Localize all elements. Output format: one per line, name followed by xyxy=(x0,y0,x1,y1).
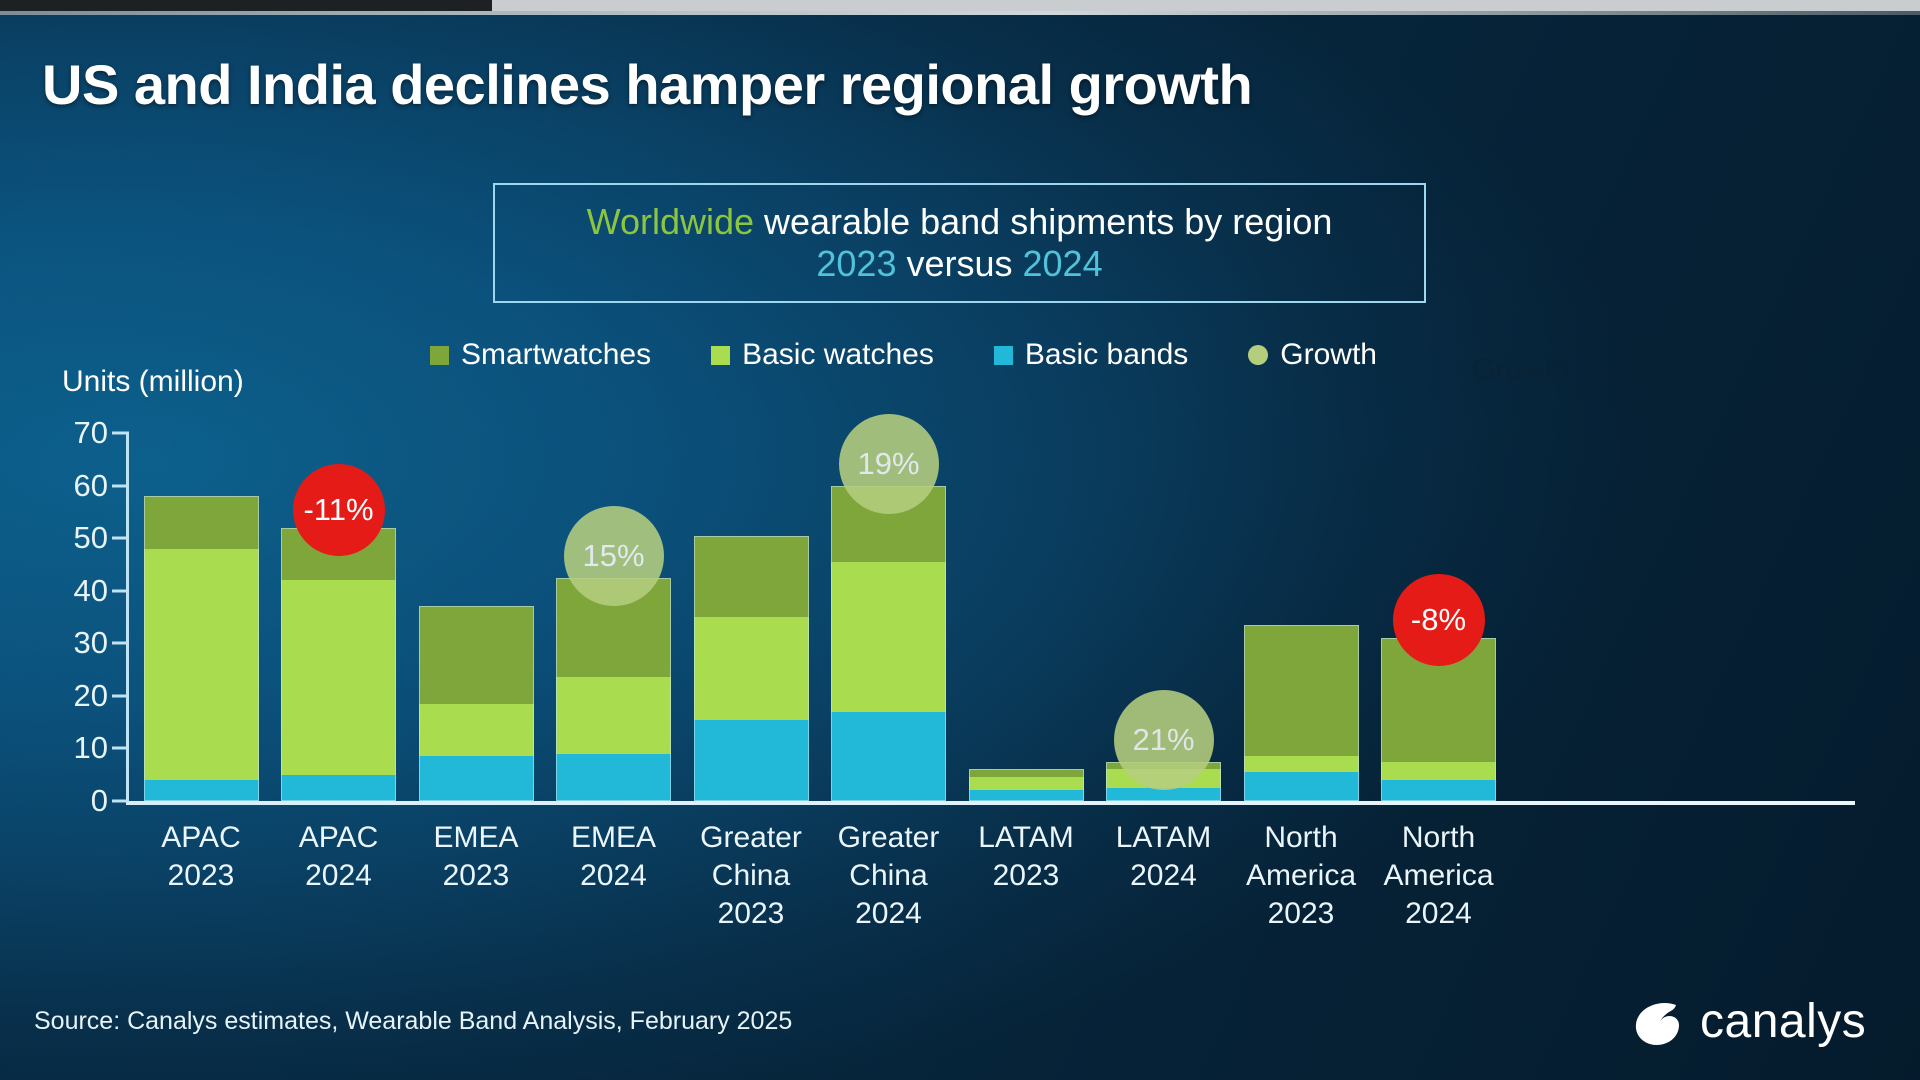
legend-label: Growth xyxy=(1280,338,1377,372)
growth-bubble: 21% xyxy=(1114,690,1214,790)
growth-bubble: 19% xyxy=(839,414,939,514)
bar-segment-basic-watches[interactable] xyxy=(694,617,809,720)
bar-segment-basic-watches[interactable] xyxy=(419,704,534,757)
x-axis-category-label: North America 2024 xyxy=(1339,819,1539,932)
legend-swatch-icon xyxy=(994,346,1013,365)
growth-bubble: 15% xyxy=(564,506,664,606)
legend-item-basic-watches[interactable]: Basic watches xyxy=(711,338,934,372)
bar-segment-basic-bands[interactable] xyxy=(556,754,671,801)
bar-segment-basic-bands[interactable] xyxy=(419,756,534,801)
browser-top-strip-dark-segment xyxy=(0,0,492,11)
bar-segment-smartwatches[interactable] xyxy=(969,769,1084,777)
bar-segment-basic-watches[interactable] xyxy=(969,777,1084,790)
ghost-growth-artifact-text: Growth xyxy=(1472,353,1571,387)
x-axis-line xyxy=(126,801,1855,805)
y-axis-tick-mark xyxy=(112,800,129,803)
bar-segment-basic-watches[interactable] xyxy=(144,549,259,780)
legend-item-growth[interactable]: Growth xyxy=(1248,338,1377,372)
bar-segment-smartwatches[interactable] xyxy=(144,496,259,549)
canalys-mark-icon xyxy=(1630,993,1686,1049)
bar-segment-basic-bands[interactable] xyxy=(694,720,809,801)
bar-segment-basic-watches[interactable] xyxy=(281,580,396,775)
subtitle-box: Worldwide wearable band shipments by reg… xyxy=(493,183,1426,303)
y-axis-tick-label: 0 xyxy=(46,783,108,819)
bar-group[interactable] xyxy=(1244,625,1359,801)
y-axis-tick-label: 10 xyxy=(46,730,108,766)
legend-item-basic-bands[interactable]: Basic bands xyxy=(994,338,1188,372)
y-axis-tick-mark xyxy=(112,642,129,645)
subtitle-scope: Worldwide xyxy=(587,201,754,242)
bar-segment-basic-watches[interactable] xyxy=(1244,756,1359,772)
y-axis-tick-mark xyxy=(112,432,129,435)
y-axis-tick-mark xyxy=(112,484,129,487)
bar-group[interactable] xyxy=(831,486,946,801)
y-axis-tick-label: 60 xyxy=(46,468,108,504)
canalys-wordmark: canalys xyxy=(1700,994,1866,1049)
bar-group[interactable] xyxy=(969,769,1084,801)
source-note: Source: Canalys estimates, Wearable Band… xyxy=(34,1007,792,1036)
bar-segment-basic-watches[interactable] xyxy=(1381,762,1496,780)
bar-group[interactable] xyxy=(144,496,259,801)
legend-label: Smartwatches xyxy=(461,338,651,372)
y-axis-tick-label: 50 xyxy=(46,520,108,556)
chart-legend: Smartwatches Basic watches Basic bands G… xyxy=(430,338,1377,372)
legend-swatch-icon xyxy=(711,346,730,365)
y-axis-tick-mark xyxy=(112,589,129,592)
bar-segment-basic-bands[interactable] xyxy=(831,712,946,801)
page-title: US and India declines hamper regional gr… xyxy=(42,52,1252,117)
growth-bubble: -11% xyxy=(293,464,385,556)
subtitle-year-a: 2023 xyxy=(816,243,896,284)
y-axis-title: Units (million) xyxy=(62,365,244,399)
legend-label: Basic watches xyxy=(742,338,934,372)
bar-segment-smartwatches[interactable] xyxy=(1244,625,1359,756)
bar-group[interactable] xyxy=(694,536,809,801)
subtitle-versus: versus xyxy=(896,243,1022,284)
subtitle-line-1-rest: wearable band shipments by region xyxy=(754,201,1332,242)
y-axis-tick-mark xyxy=(112,537,129,540)
y-axis-tick-label: 30 xyxy=(46,625,108,661)
bar-segment-basic-bands[interactable] xyxy=(969,790,1084,801)
subtitle-line-1: Worldwide wearable band shipments by reg… xyxy=(587,201,1333,243)
legend-label: Basic bands xyxy=(1025,338,1188,372)
slide-canvas: US and India declines hamper regional gr… xyxy=(0,15,1920,1080)
bar-segment-basic-bands[interactable] xyxy=(1106,788,1221,801)
legend-circle-dot-icon xyxy=(1248,345,1268,365)
y-axis-tick-label: 20 xyxy=(46,678,108,714)
subtitle-year-b: 2024 xyxy=(1023,243,1103,284)
subtitle-line-2: 2023 versus 2024 xyxy=(816,243,1102,285)
legend-item-smartwatches[interactable]: Smartwatches xyxy=(430,338,651,372)
bar-group[interactable] xyxy=(556,578,671,801)
bar-segment-basic-bands[interactable] xyxy=(281,775,396,801)
y-axis-tick-mark xyxy=(112,747,129,750)
bar-group[interactable] xyxy=(419,606,534,801)
bar-segment-basic-bands[interactable] xyxy=(1244,772,1359,801)
bar-group[interactable] xyxy=(281,528,396,801)
legend-swatch-icon xyxy=(430,346,449,365)
bar-segment-basic-watches[interactable] xyxy=(831,562,946,712)
y-axis-tick-label: 40 xyxy=(46,573,108,609)
bar-segment-basic-watches[interactable] xyxy=(556,677,671,753)
y-axis-tick-label: 70 xyxy=(46,415,108,451)
bar-segment-smartwatches[interactable] xyxy=(694,536,809,617)
growth-bubble: -8% xyxy=(1393,574,1485,666)
bar-segment-basic-bands[interactable] xyxy=(1381,780,1496,801)
y-axis-tick-mark xyxy=(112,694,129,697)
bar-segment-basic-bands[interactable] xyxy=(144,780,259,801)
canalys-logo: canalys xyxy=(1630,993,1866,1049)
chart-plot-area: 010203040506070APAC 2023APAC 2024EMEA 20… xyxy=(0,15,1920,1080)
bar-segment-smartwatches[interactable] xyxy=(419,606,534,703)
